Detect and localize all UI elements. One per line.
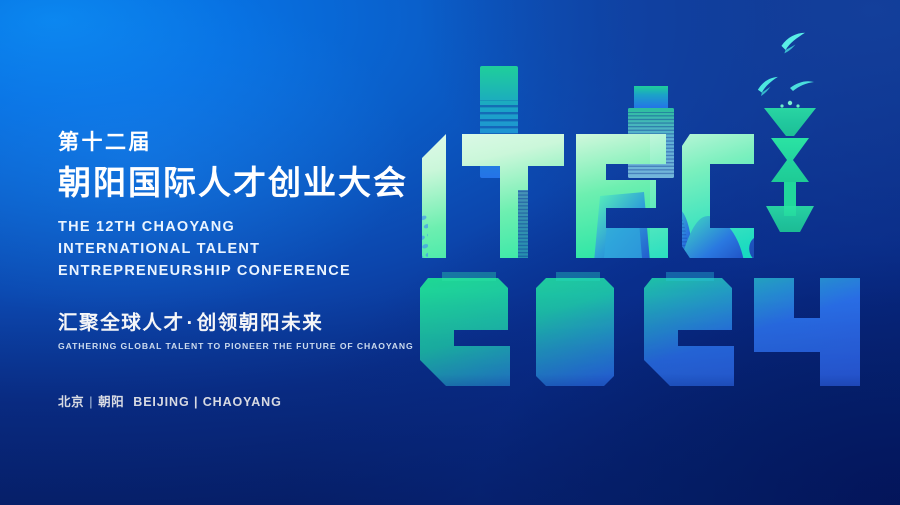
- poster-canvas: 第十二届 朝阳国际人才创业大会 THE 12TH CHAOYANG INTERN…: [0, 0, 900, 505]
- background-vignette: [0, 0, 900, 505]
